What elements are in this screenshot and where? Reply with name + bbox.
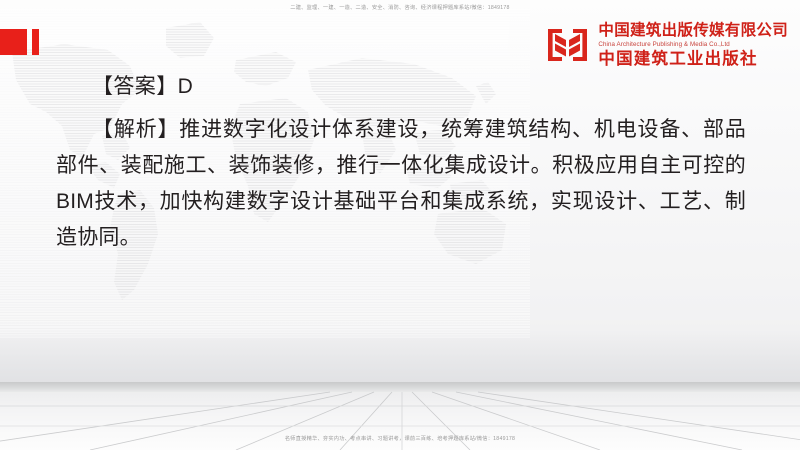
publisher-company-name-en: China Architecture Publishing & Media Co… [598,40,788,49]
publisher-press-name-cn: 中国建筑工业出版社 [598,49,788,69]
analysis-paragraph: 【解析】推进数字化设计体系建设，统筹建筑结构、机电设备、部品部件、装配施工、装饰… [56,112,746,256]
wall-shading [0,330,800,382]
publisher-logo-text: 中国建筑出版传媒有限公司 China Architecture Publishi… [598,22,788,69]
red-accent-marks [0,29,39,55]
slide-content: 【答案】D 【解析】推进数字化设计体系建设，统筹建筑结构、机电设备、部品部件、装… [56,70,746,256]
publisher-logo: 中国建筑出版传媒有限公司 China Architecture Publishi… [546,22,788,69]
open-book-logo-icon [546,25,589,65]
presentation-slide: 二建、监理、一建、一造、二造、安全、消防、咨询、经济课程押题库系站/微信：184… [0,0,800,450]
red-block-large [0,29,27,55]
red-block-small [32,29,39,55]
top-watermark-text: 二建、监理、一建、一造、二造、安全、消防、咨询、经济课程押题库系站/微信：184… [0,4,800,11]
publisher-company-name-cn: 中国建筑出版传媒有限公司 [598,22,788,40]
bottom-watermark-text: 名师直授精华、夯实内功、考点串讲、习题讲考，课前三百练、培考押题库系站/微信：1… [0,435,800,442]
answer-label: 【答案】D [92,70,746,104]
